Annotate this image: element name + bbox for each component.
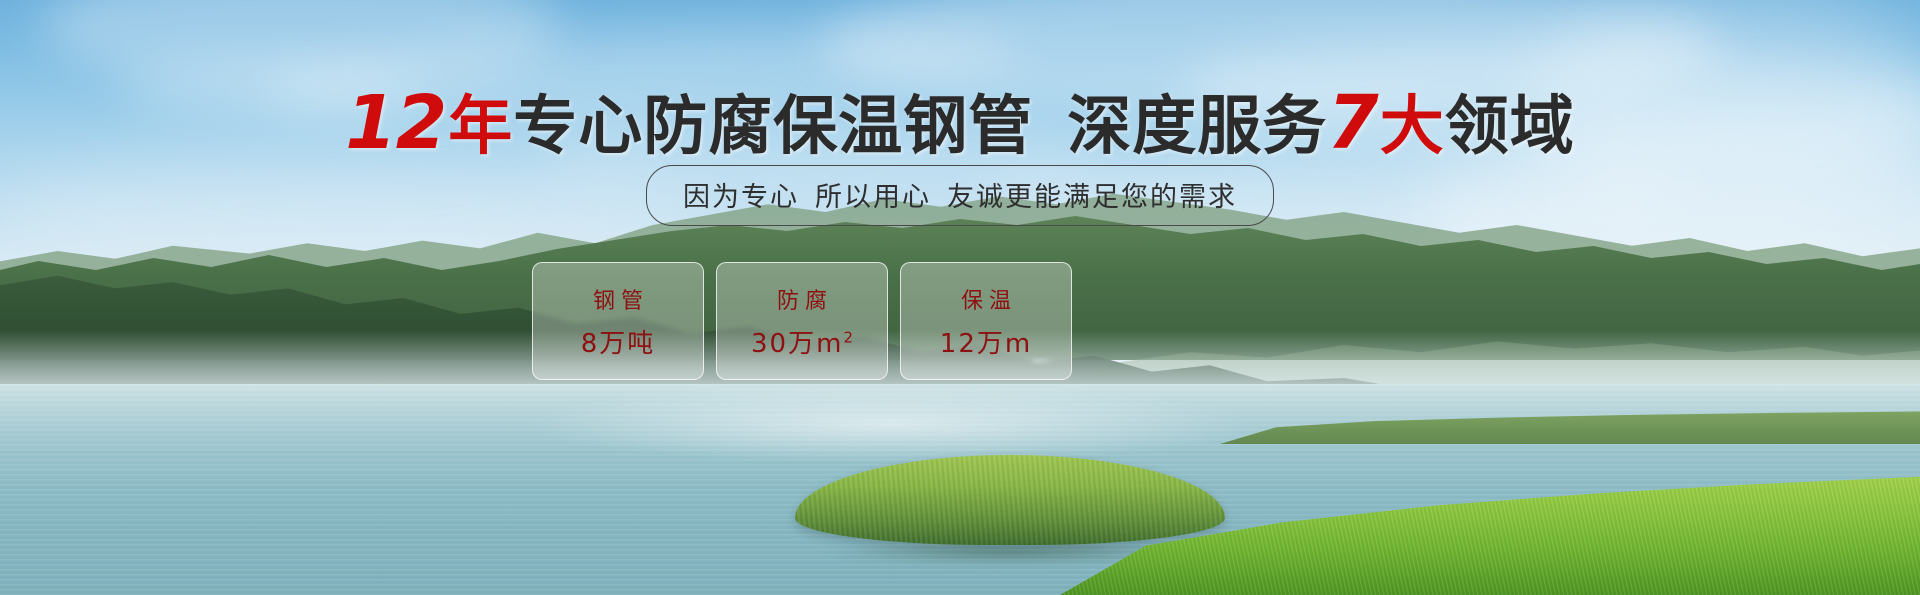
headline-service-text: 深度服务 [1067,90,1327,164]
headline-years-unit: 年 [448,90,513,164]
hero-banner: 12年专心防腐保温钢管深度服务7大领域 因为专心所以用心友诚更能满足您的需求 钢… [0,0,1920,595]
banner-headline: 12年专心防腐保温钢管深度服务7大领域 [0,86,1920,160]
subtitle-part-3: 友诚更能满足您的需求 [947,182,1237,213]
stat-card-insulation[interactable]: 保温 12万m [900,262,1072,380]
stat-card-steel-pipe[interactable]: 钢管 8万吨 [532,262,704,380]
stat-card-group: 钢管 8万吨 防腐 30万m2 保温 12万m [532,262,1202,382]
stat-card-value-superscript: 2 [843,328,853,346]
stat-card-value: 30万m2 [751,323,853,360]
stat-card-value-text: 12万m [940,329,1032,359]
subtitle-part-1: 因为专心 [683,182,799,213]
subtitle-wrapper: 因为专心所以用心友诚更能满足您的需求 [0,165,1920,226]
stat-card-title: 保温 [955,283,1017,315]
headline-fields-number: 7 [1327,80,1378,166]
headline-fields-tail: 领域 [1445,90,1575,164]
subtitle-pill: 因为专心所以用心友诚更能满足您的需求 [646,165,1274,226]
stat-card-value-text: 8万吨 [581,329,656,359]
headline-fields-unit: 大 [1380,90,1445,164]
headline-years-number: 12 [345,80,446,166]
cloud-shape [40,0,560,90]
stat-card-value-text: 30万m [751,329,843,359]
stat-card-title: 钢管 [587,283,649,315]
stat-card-title: 防腐 [771,283,833,315]
subtitle-part-2: 所以用心 [815,182,931,213]
water-glare [520,384,1260,464]
stat-card-value: 12万m [940,323,1032,360]
stat-card-value: 8万吨 [581,323,656,360]
headline-main-text: 专心防腐保温钢管 [513,90,1033,164]
stat-card-anticorrosion[interactable]: 防腐 30万m2 [716,262,888,380]
